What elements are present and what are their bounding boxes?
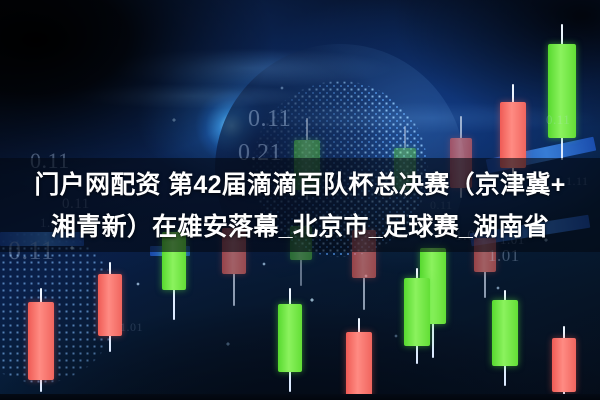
news-banner-image: 0.110.110.111.010.110.211.011.011.010.11… xyxy=(0,0,600,400)
floating-price-number: 0.11 xyxy=(546,112,570,128)
headline-line-2: 湘青新）在雄安落幕_北京市_足球赛_湖南省 xyxy=(51,207,549,247)
floating-price-number: 1.01 xyxy=(120,320,143,335)
floating-price-number: 0.11 xyxy=(248,106,291,133)
bottom-edge-strip xyxy=(0,394,600,400)
headline-line-1: 门户网配资 第42届滴滴百队杯总决赛（京津冀+ xyxy=(34,165,565,205)
headline-title: 门户网配资 第42届滴滴百队杯总决赛（京津冀+ 湘青新）在雄安落幕_北京市_足球… xyxy=(0,160,600,252)
